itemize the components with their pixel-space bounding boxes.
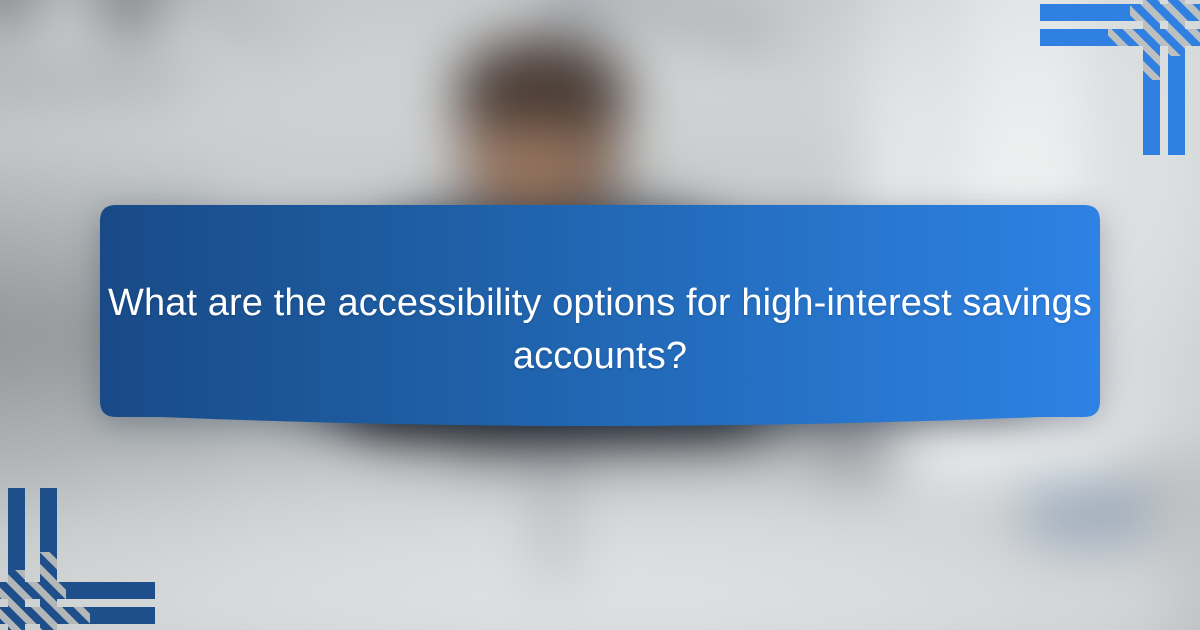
banner-canvas: What are the accessibility options for h… [0, 0, 1200, 630]
question-banner: What are the accessibility options for h… [100, 205, 1100, 430]
question-text: What are the accessibility options for h… [100, 205, 1100, 430]
